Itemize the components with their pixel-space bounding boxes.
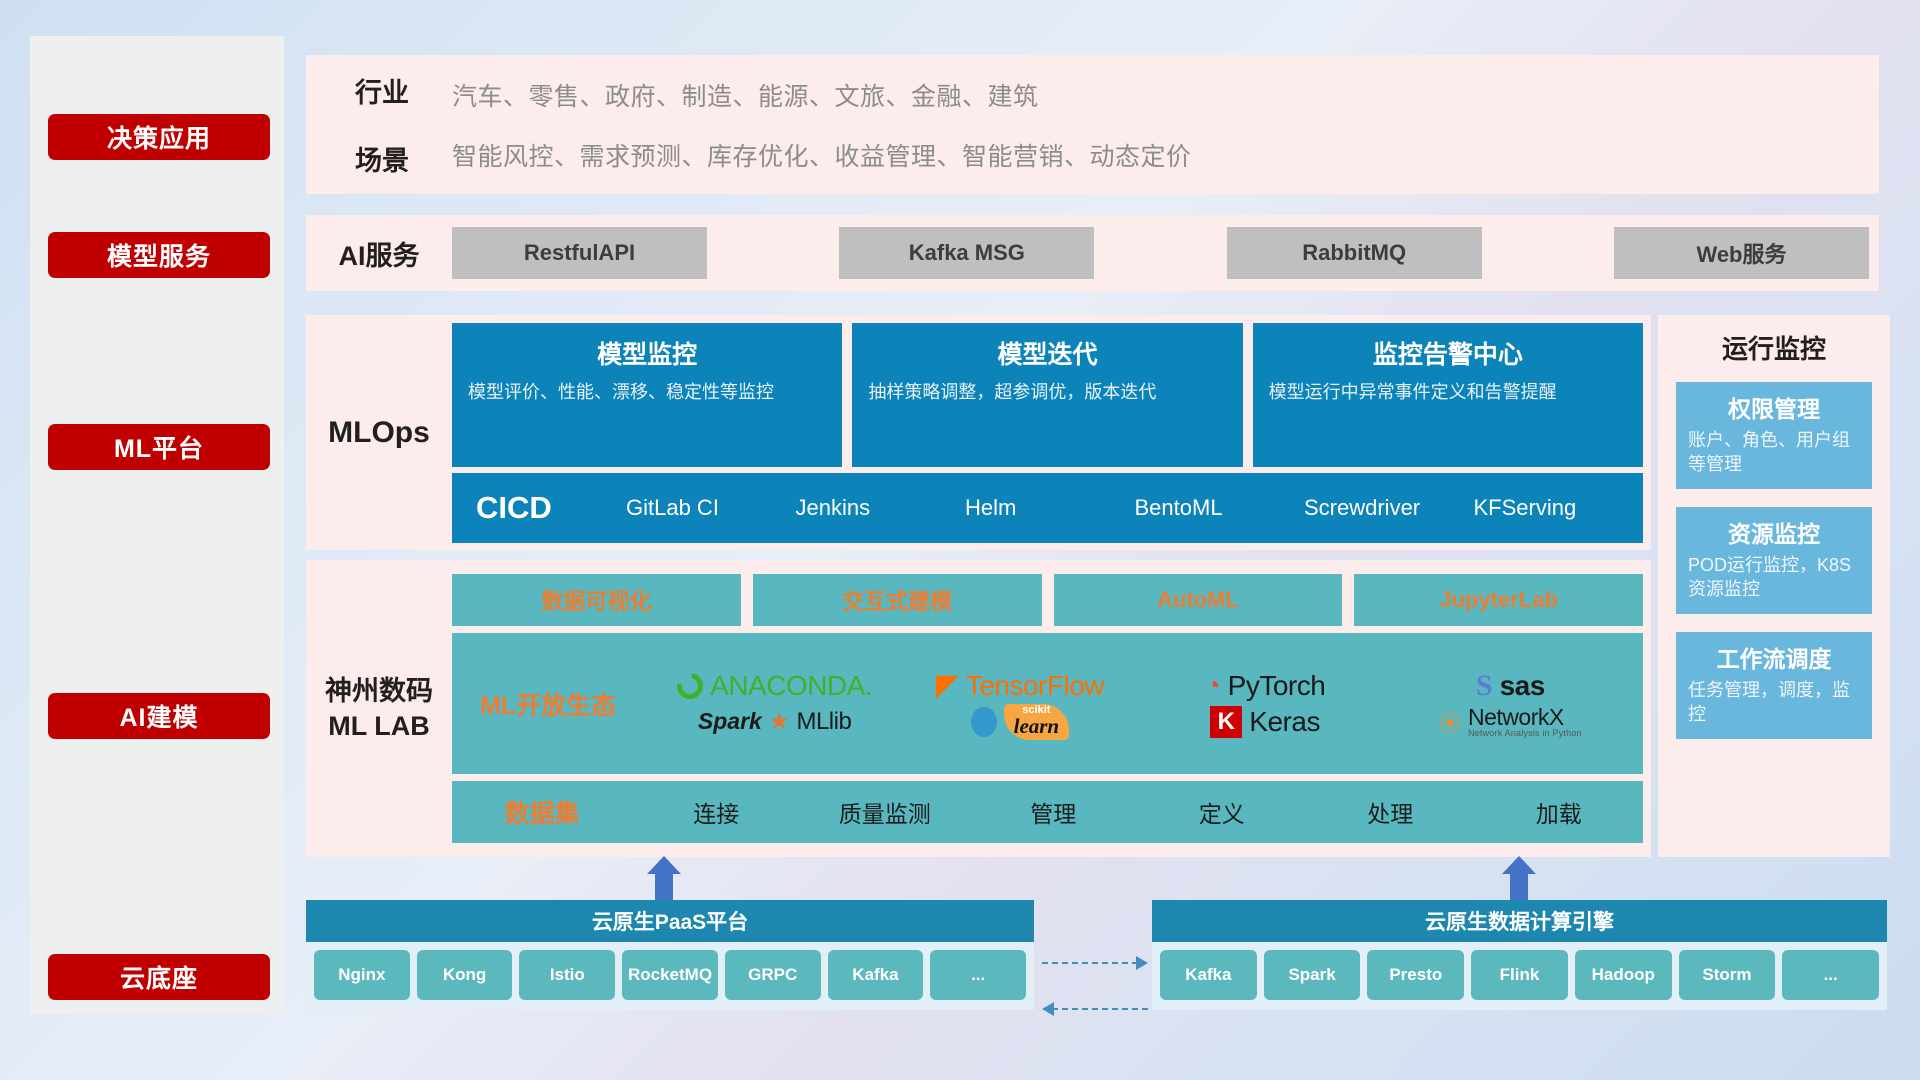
logo-spark-mllib[interactable]: Spark ★ MLlib: [652, 708, 897, 736]
decision-apps-labels: 行业 场景: [306, 71, 452, 178]
paas-chip-kafka[interactable]: Kafka: [828, 950, 924, 1000]
cloud-paas-group: 云原生PaaS平台 Nginx Kong Istio RocketMQ GRPC…: [306, 900, 1034, 1010]
monitor-card-title: 工作流调度: [1688, 640, 1860, 674]
dataset-item-define[interactable]: 定义: [1138, 795, 1307, 829]
networkx-subtitle: Network Analysis in Python: [1468, 729, 1582, 738]
rail-item-ml-platform[interactable]: ML平台: [48, 424, 270, 470]
mlops-card-desc: 模型运行中异常事件定义和告警提醒: [1269, 380, 1627, 404]
logo-tensorflow[interactable]: ◤ TensorFlow: [897, 668, 1142, 703]
cicd-item-jenkins[interactable]: Jenkins: [796, 495, 966, 520]
decision-apps-band: 行业 场景 汽车、零售、政府、制造、能源、文旅、金融、建筑 智能风控、需求预测、…: [306, 55, 1879, 194]
scenario-label: 场景: [312, 139, 452, 178]
rail-label-text: ML平台: [114, 429, 204, 465]
ml-lab-label: 神州数码 ML LAB: [306, 674, 452, 743]
dashed-arrow-right: [1042, 962, 1148, 964]
logo-anaconda[interactable]: ANACONDA.: [652, 670, 897, 702]
ai-service-chip-kafka-msg[interactable]: Kafka MSG: [839, 227, 1094, 279]
rail-label-text: 云底座: [120, 959, 198, 995]
logo-label: Keras: [1249, 706, 1320, 738]
layer-rail: 决策应用 模型服务 ML平台 AI建模 云底座: [30, 36, 284, 1014]
scenario-list: 智能风控、需求预测、库存优化、收益管理、智能营销、动态定价: [452, 137, 1879, 173]
mlops-card-alert-center[interactable]: 监控告警中心 模型运行中异常事件定义和告警提醒: [1253, 323, 1643, 467]
cicd-item-kfserving[interactable]: KFServing: [1474, 495, 1644, 520]
monitor-card-workflow[interactable]: 工作流调度 任务管理，调度，监控: [1676, 632, 1872, 739]
sas-icon: S: [1476, 669, 1493, 703]
monitor-card-permission[interactable]: 权限管理 账户、角色、用户组等管理: [1676, 382, 1872, 489]
logo-label: TensorFlow: [966, 670, 1104, 702]
paas-chip-istio[interactable]: Istio: [519, 950, 615, 1000]
mlops-card-desc: 抽样策略调整，超参调优，版本迭代: [868, 380, 1226, 404]
dashed-arrow-left: [1042, 1008, 1148, 1010]
cicd-item-bentoml[interactable]: BentoML: [1135, 495, 1305, 520]
ml-lab-label-line1: 神州数码: [306, 674, 452, 709]
dataset-row: 数据集 连接 质量监测 管理 定义 处理 加载: [452, 781, 1643, 843]
logo-label: PyTorch: [1228, 670, 1326, 702]
ml-open-ecosystem-label: ML开放生态: [462, 686, 652, 722]
lab-tab-jupyterlab[interactable]: JupyterLab: [1354, 574, 1643, 626]
logo-networkx[interactable]: ⦿ NetworkX Network Analysis in Python: [1388, 706, 1633, 738]
monitor-card-desc: 任务管理，调度，监控: [1688, 679, 1860, 727]
logo-pytorch[interactable]: ◔ PyTorch: [1143, 670, 1388, 702]
rail-label-text: 决策应用: [107, 119, 211, 155]
ai-service-label: AI服务: [306, 234, 452, 273]
engine-chip-presto[interactable]: Presto: [1367, 950, 1464, 1000]
run-monitor-title: 运行监控: [1676, 329, 1872, 366]
rail-item-model-service[interactable]: 模型服务: [48, 232, 270, 278]
ml-lab-band: 神州数码 ML LAB 数据可视化 交互式建模 AutoML JupyterLa…: [306, 560, 1651, 857]
tensorflow-icon: ◤: [936, 668, 959, 703]
ai-service-chip-restfulapi[interactable]: RestfulAPI: [452, 227, 707, 279]
logo-label: sas: [1500, 670, 1545, 702]
dataset-item-process[interactable]: 处理: [1306, 795, 1475, 829]
paas-chip-grpc[interactable]: GRPC: [725, 950, 821, 1000]
dataset-item-load[interactable]: 加载: [1475, 795, 1644, 829]
engine-chip-storm[interactable]: Storm: [1679, 950, 1776, 1000]
dataset-item-quality[interactable]: 质量监测: [801, 795, 970, 829]
architecture-diagram: 决策应用 模型服务 ML平台 AI建模 云底座 行业 场景 汽车、零售、政府、制…: [0, 0, 1920, 1080]
lab-tab-data-visualization[interactable]: 数据可视化: [452, 574, 741, 626]
logo-scikit-learn[interactable]: scikit learn: [897, 704, 1142, 740]
networkx-icon: ⦿: [1439, 706, 1461, 738]
pytorch-icon: ◔: [1205, 670, 1221, 701]
apache-spark-icon: Spark: [698, 708, 762, 735]
ml-lab-label-line2: ML LAB: [306, 709, 452, 744]
paas-chip-rocketmq[interactable]: RocketMQ: [622, 950, 718, 1000]
lab-tab-automl[interactable]: AutoML: [1054, 574, 1343, 626]
mlops-card-model-iteration[interactable]: 模型迭代 抽样策略调整，超参调优，版本迭代: [852, 323, 1242, 467]
lab-tab-interactive-modeling[interactable]: 交互式建模: [753, 574, 1042, 626]
engine-chip-flink[interactable]: Flink: [1471, 950, 1568, 1000]
mlops-card-title: 模型监控: [468, 335, 826, 371]
monitor-card-desc: 账户、角色、用户组等管理: [1688, 429, 1860, 477]
rail-item-cloud-base[interactable]: 云底座: [48, 954, 270, 1000]
paas-chip-kong[interactable]: Kong: [417, 950, 513, 1000]
mlops-card-model-monitoring[interactable]: 模型监控 模型评价、性能、漂移、稳定性等监控: [452, 323, 842, 467]
spark-star-icon: ★: [769, 708, 790, 735]
industry-list: 汽车、零售、政府、制造、能源、文旅、金融、建筑: [452, 77, 1879, 113]
scikit-learn-icon: [971, 707, 997, 737]
mlops-band: MLOps 模型监控 模型评价、性能、漂移、稳定性等监控 模型迭代 抽样策略调整…: [306, 315, 1651, 550]
cicd-bar: CICD GitLab CI Jenkins Helm BentoML Scre…: [452, 473, 1643, 543]
engine-chip-hadoop[interactable]: Hadoop: [1575, 950, 1672, 1000]
paas-chip-nginx[interactable]: Nginx: [314, 950, 410, 1000]
run-monitor-panel: 运行监控 权限管理 账户、角色、用户组等管理 资源监控 POD运行监控，K8S资…: [1658, 315, 1890, 857]
logo-label: MLlib: [796, 708, 851, 736]
cloud-paas-title: 云原生PaaS平台: [306, 900, 1034, 942]
up-arrow-paas: [647, 856, 681, 900]
industry-label: 行业: [312, 71, 452, 110]
engine-chip-more[interactable]: ...: [1782, 950, 1879, 1000]
up-arrow-data-engine: [1502, 856, 1536, 900]
dataset-title: 数据集: [452, 794, 632, 830]
logo-label: ANACONDA.: [710, 670, 872, 702]
keras-icon: K: [1210, 706, 1242, 738]
engine-chip-kafka[interactable]: Kafka: [1160, 950, 1257, 1000]
dataset-item-manage[interactable]: 管理: [969, 795, 1138, 829]
cicd-item-helm[interactable]: Helm: [965, 495, 1135, 520]
rail-label-text: 模型服务: [107, 237, 211, 273]
paas-chip-more[interactable]: ...: [930, 950, 1026, 1000]
ml-open-ecosystem: ML开放生态 ANACONDA. ◤ TensorFlow ◔ PyTorch: [452, 633, 1643, 774]
dataset-item-connect[interactable]: 连接: [632, 795, 801, 829]
mlops-card-desc: 模型评价、性能、漂移、稳定性等监控: [468, 380, 826, 404]
logo-label: learn: [1014, 716, 1060, 737]
mlops-card-title: 监控告警中心: [1269, 335, 1627, 371]
ai-service-chip-rabbitmq[interactable]: RabbitMQ: [1227, 227, 1482, 279]
cicd-title: CICD: [476, 490, 626, 526]
mlops-card-title: 模型迭代: [868, 335, 1226, 371]
cicd-item-screwdriver[interactable]: Screwdriver: [1304, 495, 1474, 520]
rail-item-decision-apps[interactable]: 决策应用: [48, 114, 270, 160]
ai-service-band: AI服务 RestfulAPI Kafka MSG RabbitMQ Web服务: [306, 215, 1879, 291]
logo-label: NetworkX: [1468, 706, 1582, 729]
anaconda-icon: [672, 667, 708, 703]
engine-chip-spark[interactable]: Spark: [1264, 950, 1361, 1000]
monitor-card-desc: POD运行监控，K8S资源监控: [1688, 554, 1860, 602]
ai-service-chip-web[interactable]: Web服务: [1614, 227, 1869, 279]
cloud-data-engine-group: 云原生数据计算引擎 Kafka Spark Presto Flink Hadoo…: [1152, 900, 1887, 1010]
mlops-label: MLOps: [306, 416, 452, 450]
cicd-item-gitlab-ci[interactable]: GitLab CI: [626, 495, 796, 520]
monitor-card-resource[interactable]: 资源监控 POD运行监控，K8S资源监控: [1676, 507, 1872, 614]
cloud-data-engine-title: 云原生数据计算引擎: [1152, 900, 1887, 942]
monitor-card-title: 资源监控: [1688, 515, 1860, 549]
logo-keras[interactable]: K Keras: [1143, 706, 1388, 738]
rail-item-ai-modeling[interactable]: AI建模: [48, 693, 270, 739]
monitor-card-title: 权限管理: [1688, 390, 1860, 424]
logo-sas[interactable]: S sas: [1388, 669, 1633, 703]
rail-label-text: AI建模: [119, 698, 198, 734]
